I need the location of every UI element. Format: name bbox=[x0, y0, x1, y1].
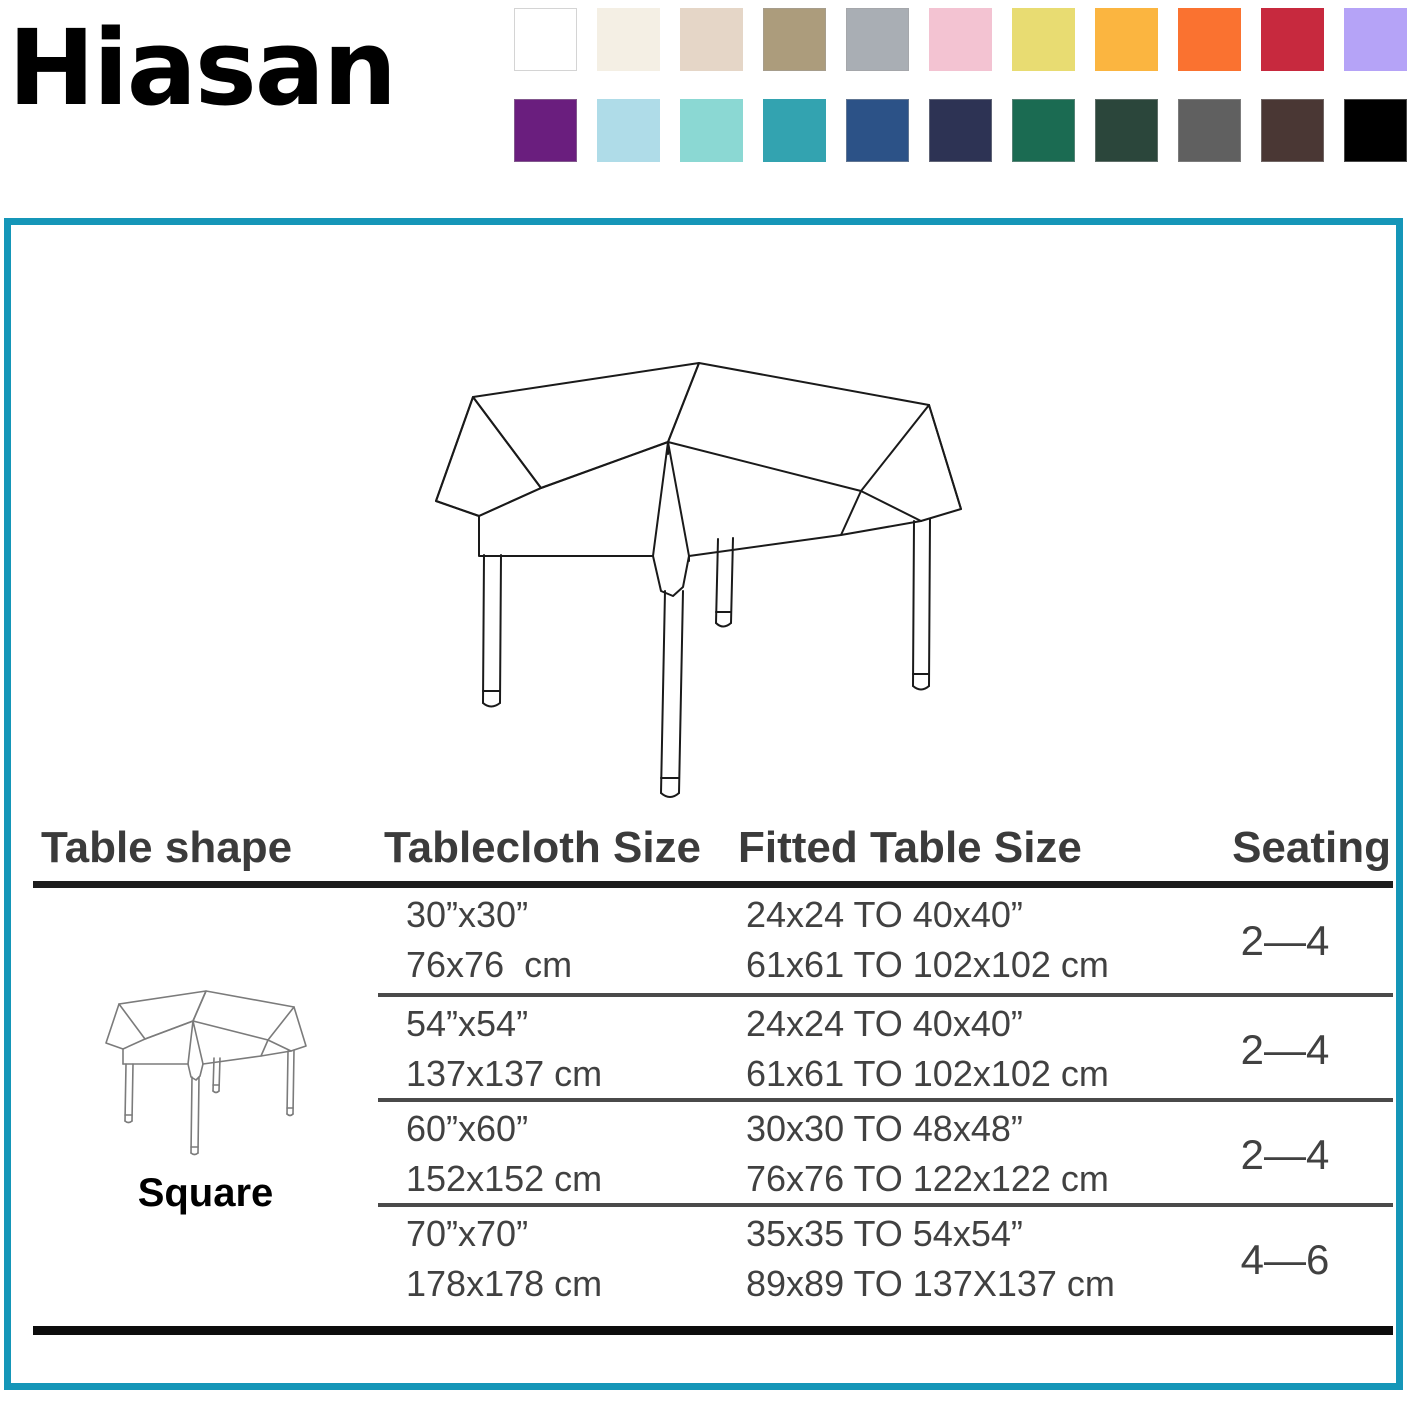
size-guide-panel: Table shape Tablecloth Size Fitted Table… bbox=[4, 218, 1403, 1390]
color-swatch-aqua[interactable] bbox=[680, 99, 743, 162]
table-row: 54”x54” 137x137 cm 24x24 TO 40x40” 61x61… bbox=[378, 993, 1393, 1098]
color-swatch-purple[interactable] bbox=[514, 99, 577, 162]
color-swatch-black[interactable] bbox=[1344, 99, 1407, 162]
square-table-illustration-icon bbox=[421, 341, 981, 811]
table-shape-cell: Square bbox=[33, 888, 378, 1308]
header-divider-rule bbox=[33, 881, 1393, 888]
cell-tablecloth-size: 54”x54” 137x137 cm bbox=[406, 1003, 746, 1095]
color-swatch-pink[interactable] bbox=[929, 8, 992, 71]
column-header-tablecloth-size: Tablecloth Size bbox=[384, 823, 701, 873]
table-bottom-rule bbox=[33, 1326, 1393, 1335]
cell-seating: 4—6 bbox=[1185, 1207, 1385, 1312]
cell-tablecloth-size: 70”x70” 178x178 cm bbox=[406, 1213, 746, 1305]
color-swatch-light-blue[interactable] bbox=[597, 99, 660, 162]
color-swatch-cream[interactable] bbox=[597, 8, 660, 71]
square-table-thumbnail-icon bbox=[101, 981, 311, 1166]
table-header-row: Table shape Tablecloth Size Fitted Table… bbox=[33, 811, 1393, 873]
color-swatch-grid bbox=[514, 8, 1410, 172]
tablecloth-size-cm: 152x152 cm bbox=[406, 1154, 746, 1204]
tablecloth-size-cm: 178x178 cm bbox=[406, 1259, 746, 1309]
color-swatch-dim-gray[interactable] bbox=[1178, 99, 1241, 162]
color-swatch-turquoise[interactable] bbox=[763, 99, 826, 162]
color-swatch-dark-navy[interactable] bbox=[929, 99, 992, 162]
color-swatch-steel-blue[interactable] bbox=[846, 99, 909, 162]
cell-seating: 2—4 bbox=[1185, 997, 1385, 1102]
cell-seating: 2—4 bbox=[1185, 1102, 1385, 1207]
size-table: Table shape Tablecloth Size Fitted Table… bbox=[33, 811, 1393, 1335]
tablecloth-size-cm: 137x137 cm bbox=[406, 1049, 746, 1099]
tablecloth-size-cm: 76x76 cm bbox=[406, 940, 746, 990]
color-swatch-yellow[interactable] bbox=[1012, 8, 1075, 71]
color-swatch-taupe[interactable] bbox=[763, 8, 826, 71]
size-rows-area: 30”x30” 76x76 cm 24x24 TO 40x40” 61x61 T… bbox=[378, 888, 1393, 1308]
cell-tablecloth-size: 30”x30” 76x76 cm bbox=[406, 894, 746, 986]
cell-tablecloth-size: 60”x60” 152x152 cm bbox=[406, 1108, 746, 1200]
tablecloth-size-inches: 54”x54” bbox=[406, 999, 746, 1049]
color-swatch-amber[interactable] bbox=[1095, 8, 1158, 71]
column-header-seating: Seating bbox=[1232, 823, 1391, 873]
table-body: Square 30”x30” 76x76 cm 24x24 TO 40x40” … bbox=[33, 888, 1393, 1308]
color-swatch-sea-green[interactable] bbox=[1012, 99, 1075, 162]
cell-seating: 2—4 bbox=[1185, 888, 1385, 993]
color-swatch-dark-forest[interactable] bbox=[1095, 99, 1158, 162]
color-swatch-red[interactable] bbox=[1261, 8, 1324, 71]
column-header-fitted-table-size: Fitted Table Size bbox=[738, 823, 1082, 873]
color-swatch-row-2 bbox=[514, 99, 1410, 162]
color-swatch-dark-brown[interactable] bbox=[1261, 99, 1324, 162]
tablecloth-size-inches: 60”x60” bbox=[406, 1104, 746, 1154]
color-swatch-row-1 bbox=[514, 8, 1410, 71]
table-row: 30”x30” 76x76 cm 24x24 TO 40x40” 61x61 T… bbox=[378, 888, 1393, 993]
table-row: 60”x60” 152x152 cm 30x30 TO 48x48” 76x76… bbox=[378, 1098, 1393, 1203]
table-shape-label: Square bbox=[138, 1170, 274, 1216]
table-row: 70”x70” 178x178 cm 35x35 TO 54x54” 89x89… bbox=[378, 1203, 1393, 1308]
top-bar: Hiasan bbox=[0, 0, 1416, 196]
tablecloth-size-inches: 70”x70” bbox=[406, 1209, 746, 1259]
brand-logo: Hiasan bbox=[8, 8, 478, 128]
color-swatch-white[interactable] bbox=[514, 8, 577, 71]
color-swatch-gray[interactable] bbox=[846, 8, 909, 71]
color-swatch-lavender[interactable] bbox=[1344, 8, 1407, 71]
color-swatch-orange[interactable] bbox=[1178, 8, 1241, 71]
tablecloth-size-inches: 30”x30” bbox=[406, 890, 746, 940]
column-header-table-shape: Table shape bbox=[41, 823, 292, 873]
color-swatch-beige[interactable] bbox=[680, 8, 743, 71]
